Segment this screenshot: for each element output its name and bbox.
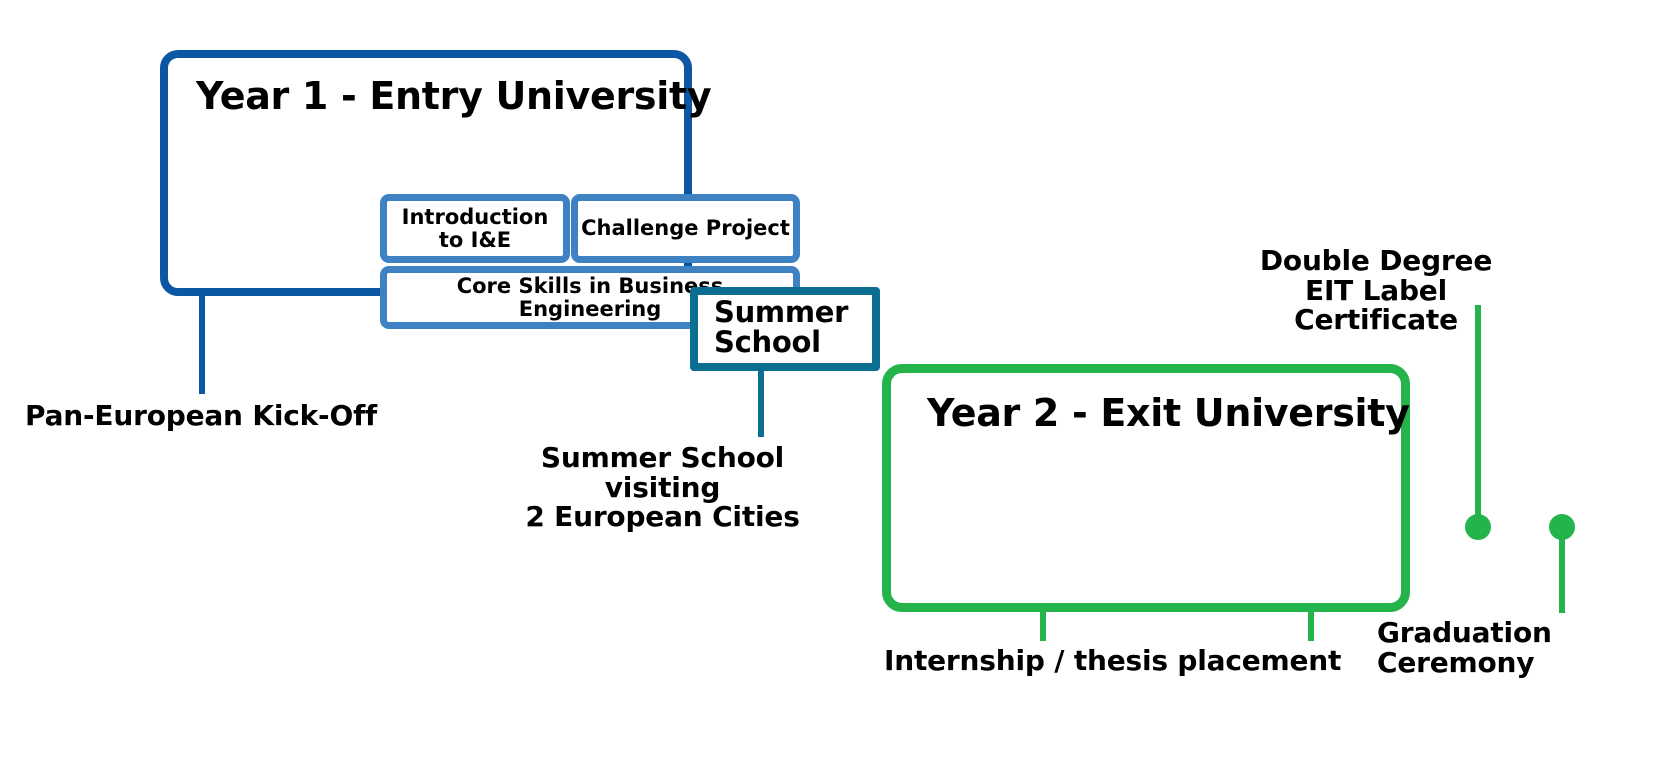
callout-label-internship-placement: Internship / thesis placement — [884, 646, 1341, 676]
pin-dot-double-degree — [1465, 514, 1491, 540]
year1-title: Year 1 - Entry University — [196, 74, 711, 118]
course-chip-label: Challenge Project — [581, 217, 790, 240]
pin-dot-graduation — [1549, 514, 1575, 540]
callout-label-double-degree: Double Degree EIT Label Certificate — [1234, 246, 1518, 335]
course-chip-label: Introduction to I&E — [402, 206, 549, 251]
year2-exit-university-box[interactable]: Year 2 - Exit University Core Skills in … — [882, 364, 1410, 612]
course-chip-challenge-project[interactable]: Challenge Project — [571, 194, 800, 263]
summer-school-title: Summer School — [714, 298, 848, 357]
course-chip-introduction-to-ie[interactable]: Introduction to I&E — [380, 194, 570, 263]
callout-label-graduation-ceremony: Graduation Ceremony — [1377, 618, 1552, 677]
diagram-canvas: Year 1 - Entry University Introduction t… — [0, 0, 1680, 775]
year2-title: Year 2 - Exit University — [927, 391, 1410, 435]
callout-label-kick-off: Pan-European Kick-Off — [25, 401, 377, 431]
summer-school-box[interactable]: Summer School — [690, 287, 880, 371]
callout-label-summer-school-visiting: Summer School visiting 2 European Cities — [495, 443, 830, 532]
year1-entry-university-box[interactable]: Year 1 - Entry University Introduction t… — [160, 50, 692, 296]
